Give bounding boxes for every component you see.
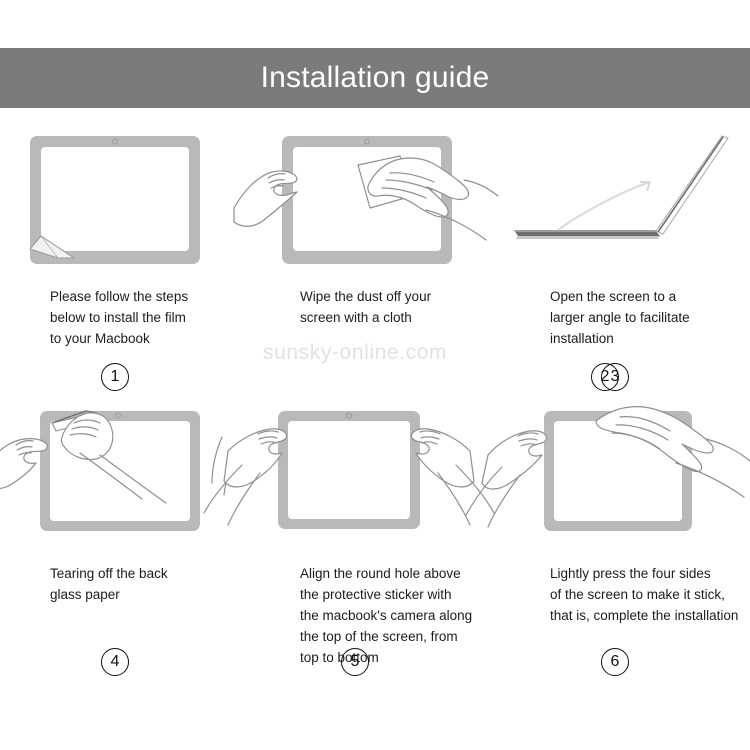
step-panel-5: Align the round hole above the protectiv… xyxy=(250,403,500,703)
step-caption: Align the round hole above the protectiv… xyxy=(300,563,500,668)
illustration-laptop-open-angle-arrow xyxy=(500,118,750,258)
step-number-badge: 4 xyxy=(101,648,129,676)
step-panel-2: Wipe the dust off your screen with a clo… xyxy=(250,118,500,403)
step-caption: Wipe the dust off your screen with a clo… xyxy=(300,286,500,328)
step-caption: Lightly press the four sides of the scre… xyxy=(550,563,750,626)
step-caption: Please follow the steps below to install… xyxy=(50,286,250,349)
step-panel-6: Lightly press the four sides of the scre… xyxy=(500,403,750,703)
illustration-hands-wiping-screen-with-cloth xyxy=(250,118,500,258)
step-number-badge: 6 xyxy=(601,648,629,676)
step-number-badge: 5 xyxy=(341,648,369,676)
step-caption: Tearing off the back glass paper xyxy=(50,563,250,605)
step-caption: Open the screen to a larger angle to fac… xyxy=(550,286,750,349)
header-banner: Installation guide xyxy=(0,48,750,108)
step-panel-4: Tearing off the back glass paper 4 xyxy=(0,403,250,703)
step-panel-1: Please follow the steps below to install… xyxy=(0,118,250,403)
step-number-badge: 1 xyxy=(101,363,129,391)
steps-grid: Please follow the steps below to install… xyxy=(0,118,750,738)
step-number-badge: 3 xyxy=(601,363,629,391)
page-title: Installation guide xyxy=(261,63,490,93)
illustration-screen-with-peeling-corner xyxy=(0,118,250,258)
illustration-two-hands-aligning-film xyxy=(250,403,500,543)
illustration-hands-tearing-back-paper xyxy=(0,403,250,543)
step-panel-3: Open the screen to a larger angle to fac… xyxy=(500,118,750,403)
illustration-hands-pressing-screen-sides xyxy=(500,403,750,543)
